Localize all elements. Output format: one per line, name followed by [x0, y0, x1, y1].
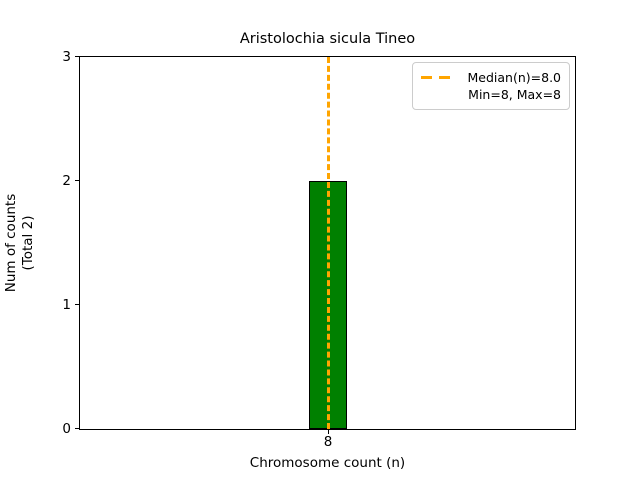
chart-legend: Median(n)=8.0 Min=8, Max=8 — [412, 62, 570, 110]
y-axis-label-line-1: Num of counts — [3, 194, 20, 293]
ytick-0: 0 — [75, 428, 80, 429]
chart-figure: Aristolochia sicula Tineo 0 1 2 3 8 — [0, 0, 640, 480]
x-axis-label: Chromosome count (n) — [79, 455, 576, 471]
plot-area: 0 1 2 3 8 Median(n)=8.0 Min=8, Max=8 — [79, 56, 576, 430]
ytick-label-1: 1 — [62, 298, 71, 312]
ytick-label-0: 0 — [62, 422, 71, 436]
plot-inner — [80, 57, 575, 429]
ytick-label-2: 2 — [62, 174, 71, 188]
median-line — [327, 57, 330, 429]
legend-line-1: Median(n)=8.0 — [462, 69, 561, 86]
y-axis-label: Num of counts (Total 2) — [0, 56, 40, 430]
xtick-label-8: 8 — [324, 435, 333, 450]
legend-entry-median: Median(n)=8.0 Min=8, Max=8 — [421, 69, 561, 103]
ytick-1: 1 — [75, 304, 80, 305]
dashed-line-icon — [421, 69, 453, 86]
y-axis-label-line-2: (Total 2) — [20, 194, 37, 293]
chart-title: Aristolochia sicula Tineo — [79, 31, 576, 48]
ytick-label-3: 3 — [62, 50, 71, 64]
ytick-2: 2 — [75, 180, 80, 181]
ytick-3: 3 — [75, 56, 80, 57]
legend-line-2: Min=8, Max=8 — [462, 86, 561, 103]
legend-entry-text: Median(n)=8.0 Min=8, Max=8 — [462, 69, 561, 103]
